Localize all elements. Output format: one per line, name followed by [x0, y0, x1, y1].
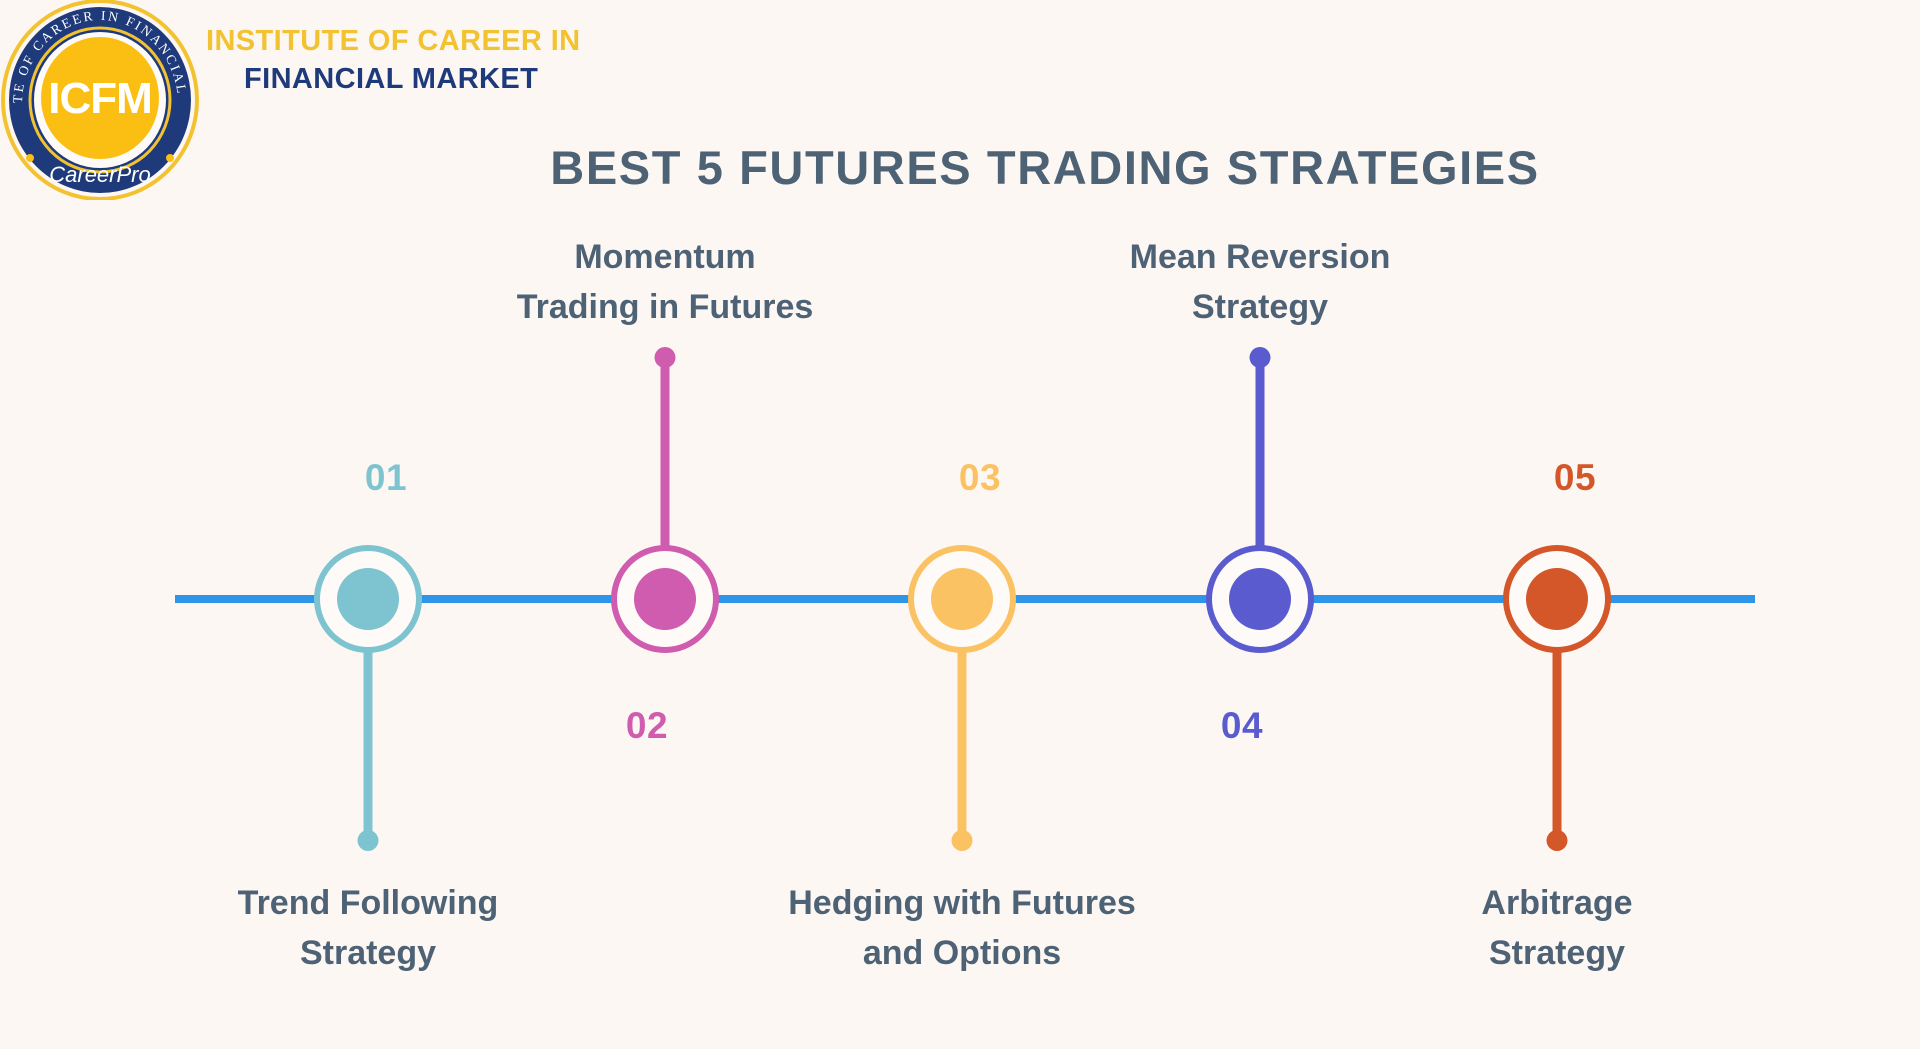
step-label-line-2: Strategy	[238, 928, 499, 978]
step-label-03: Hedging with Futuresand Options	[788, 878, 1136, 979]
step-node-inner	[1229, 568, 1291, 630]
step-node-inner	[337, 568, 399, 630]
step-number-01: 01	[365, 457, 407, 499]
step-label-05: ArbitrageStrategy	[1481, 878, 1632, 979]
step-label-line-1: Momentum	[517, 232, 814, 282]
step-label-line-2: Trading in Futures	[517, 282, 814, 332]
step-number-04: 04	[1221, 705, 1263, 747]
step-label-line-2: Strategy	[1481, 928, 1632, 978]
step-node-05[interactable]	[1503, 545, 1611, 653]
step-node-03[interactable]	[908, 545, 1016, 653]
step-number-03: 03	[959, 457, 1001, 499]
step-label-01: Trend FollowingStrategy	[238, 878, 499, 979]
step-node-04[interactable]	[1206, 545, 1314, 653]
step-node-inner	[1526, 568, 1588, 630]
step-node-02[interactable]	[611, 545, 719, 653]
timeline-infographic: 01Trend FollowingStrategy02MomentumTradi…	[0, 0, 1920, 1049]
step-node-inner	[931, 568, 993, 630]
step-label-line-1: Hedging with Futures	[788, 878, 1136, 928]
step-label-line-1: Mean Reversion	[1130, 232, 1391, 282]
step-label-line-1: Trend Following	[238, 878, 499, 928]
step-label-02: MomentumTrading in Futures	[517, 232, 814, 333]
step-label-line-1: Arbitrage	[1481, 878, 1632, 928]
step-number-05: 05	[1554, 457, 1596, 499]
step-label-line-2: and Options	[788, 928, 1136, 978]
step-label-04: Mean ReversionStrategy	[1130, 232, 1391, 333]
step-node-inner	[634, 568, 696, 630]
step-number-02: 02	[626, 705, 668, 747]
step-node-01[interactable]	[314, 545, 422, 653]
step-label-line-2: Strategy	[1130, 282, 1391, 332]
